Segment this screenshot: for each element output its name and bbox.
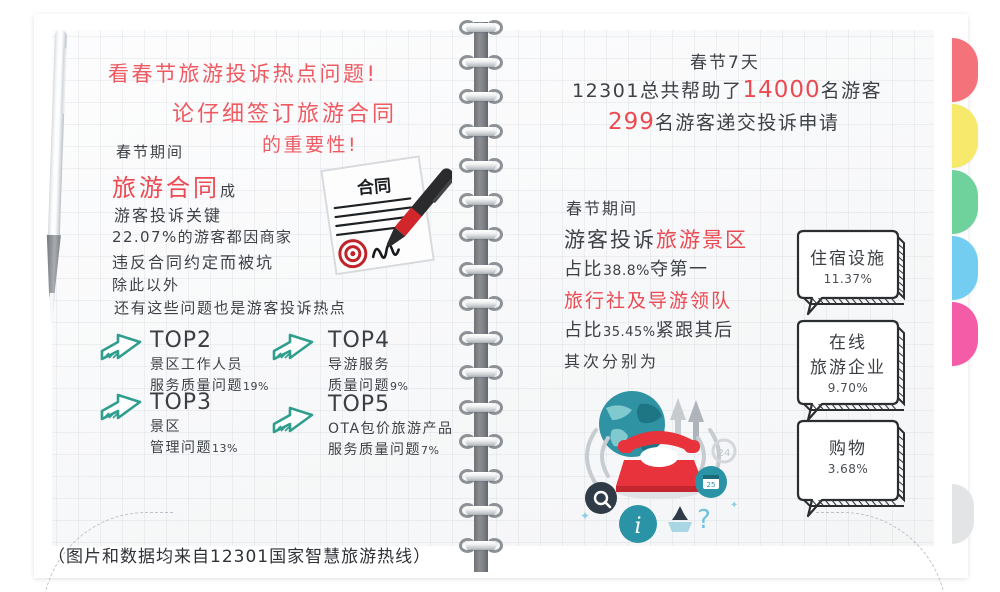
spiral-ring (455, 538, 507, 553)
right-header-visitor-count: 14000 (742, 77, 820, 103)
ring-bar (466, 58, 496, 67)
right-body-line-3-post: 夺第一 (650, 259, 709, 280)
top-item-percent: 19% (243, 380, 269, 393)
ring-bar (466, 23, 496, 32)
pen-grip (44, 235, 62, 298)
right-header-line-2-pre: 12301总共帮助了 (572, 80, 742, 102)
top-item-percent: 7% (421, 444, 439, 457)
top-item-rank: TOP4 (328, 328, 408, 353)
ring-bar (466, 127, 496, 136)
spiral-ring (455, 365, 507, 380)
svg-text:25: 25 (707, 481, 716, 489)
right-body-pct-first: 38.8% (603, 263, 650, 279)
top-item-line-1: 景区 (150, 416, 238, 436)
right-body-line-3-pre: 占比 (564, 259, 603, 280)
top-item-line-2: 管理问题13% (150, 437, 238, 457)
spiral-ring (455, 434, 507, 449)
arrow-icon (100, 333, 152, 373)
right-header-line-3-post: 名游客递交投诉申请 (655, 112, 840, 134)
bubble-percent: 3.68% (798, 462, 898, 476)
ring-bar (466, 196, 496, 205)
right-header-line-3: 299名游客递交投诉申请 (608, 108, 839, 135)
index-tab-yellow[interactable] (952, 104, 978, 168)
left-body-line-2-red: 旅游合同 (112, 174, 220, 202)
top-item-line-1: OTA包价旅游产品 (328, 418, 454, 438)
left-body-line-4: 22.07%的游客都因商家 (112, 226, 292, 247)
top-item-rank: TOP3 (150, 390, 238, 415)
index-tab-green[interactable] (952, 170, 978, 234)
ring-bar (466, 506, 496, 515)
left-body-line-7: 还有这些问题也是游客投诉热点 (114, 297, 346, 318)
ring-bar (466, 472, 496, 481)
left-body-line-1: 春节期间 (116, 141, 184, 162)
right-body-line-5: 占比35.45%紧跟其后 (564, 316, 734, 342)
right-body-line-3: 占比38.8%夺第一 (564, 255, 708, 281)
source-caption: （图片和数据均来自12301国家智慧旅游热线） (48, 542, 431, 567)
right-body-line-5-post: 紧跟其后 (656, 320, 734, 341)
hotline-illustration: 24 25 i ? ✦ ✦ (566, 386, 760, 550)
ring-bar (466, 334, 496, 343)
spiral-ring (455, 193, 507, 208)
bubble-title-2: 旅游企业 (798, 353, 898, 378)
right-body-pct-second: 35.45% (603, 325, 656, 340)
infographic-canvas: 看春节旅游投诉热点问题! 论仔细签订旅游合同 的重要性! 春节期间 旅游合同成 … (0, 0, 1000, 592)
right-header-line-1: 春节7天 (690, 48, 760, 73)
top-item-percent: 13% (212, 442, 238, 455)
right-body-line-1: 春节期间 (566, 195, 638, 219)
question-mark-icon: ? (697, 505, 711, 535)
hotline-24h-badge: 24 (718, 448, 731, 459)
spiral-ring (455, 503, 507, 518)
spiral-ring (455, 296, 507, 311)
stat-bubble: 购物3.68% (792, 418, 904, 524)
top-item-top4: TOP4导游服务质量问题9% (328, 328, 408, 395)
bubble-content: 购物3.68% (798, 434, 898, 476)
right-header-complaint-count: 299 (608, 109, 655, 135)
right-body-line-5-pre: 占比 (564, 320, 603, 341)
top-item-rank: TOP5 (328, 392, 454, 417)
svg-text:✦: ✦ (580, 509, 590, 523)
top-item-line-1: 景区工作人员 (150, 354, 269, 374)
top-item-line-2-text: 服务质量问题 (328, 442, 421, 458)
contract-illustration: 合同 (312, 152, 452, 288)
left-body-line-6: 除此以外 (112, 274, 180, 295)
spiral-ring (455, 400, 507, 415)
spiral-rings (455, 20, 507, 576)
index-tab-red[interactable] (952, 38, 978, 102)
spiral-ring (455, 89, 507, 104)
ring-bar (466, 541, 496, 550)
left-body-line-2-tail: 成 (220, 182, 236, 200)
right-body-line-2-pre: 游客投诉 (564, 228, 656, 252)
top-item-line-1: 导游服务 (328, 354, 408, 374)
bubble-title: 住宿设施 (798, 244, 898, 269)
bubble-title: 在线 (798, 328, 898, 353)
arrow-icon (272, 333, 324, 373)
index-tabs[interactable] (952, 38, 978, 368)
spiral-ring (455, 469, 507, 484)
top-item-line-2-text: 管理问题 (150, 440, 212, 456)
ring-bar (466, 368, 496, 377)
spiral-ring (455, 227, 507, 242)
ring-bar (466, 265, 496, 274)
svg-text:合同: 合同 (356, 175, 392, 199)
ring-bar (466, 437, 496, 446)
headline-line-2: 论仔细签订旅游合同 (172, 96, 397, 128)
index-tab-gray[interactable] (952, 484, 974, 544)
right-header-line-2-post: 名游客 (821, 80, 883, 102)
top-item-top3: TOP3景区管理问题13% (150, 390, 238, 457)
index-tab-blue[interactable] (952, 236, 978, 300)
right-body-line-2: 游客投诉旅游景区 (564, 224, 748, 254)
spiral-ring (455, 20, 507, 35)
index-tab-pink[interactable] (952, 302, 978, 366)
spiral-ring (455, 124, 507, 139)
spiral-ring (455, 331, 507, 346)
arrow-icon (272, 406, 324, 446)
bubble-content: 在线旅游企业9.70% (798, 328, 898, 395)
spiral-ring (455, 158, 507, 173)
stat-bubble: 在线旅游企业9.70% (792, 318, 904, 428)
ring-bar (466, 161, 496, 170)
svg-text:✦: ✦ (730, 500, 738, 511)
right-body-line-6: 其次分别为 (564, 348, 659, 372)
top-item-top2: TOP2景区工作人员服务质量问题19% (150, 328, 269, 395)
headline-line-1: 看春节旅游投诉热点问题! (108, 58, 377, 88)
ring-bar (466, 299, 496, 308)
bubble-percent: 11.37% (798, 272, 898, 286)
right-body-line-2-red: 旅游景区 (656, 228, 748, 252)
top-item-line-2: 服务质量问题7% (328, 439, 454, 459)
stat-bubble: 住宿设施11.37% (792, 228, 904, 322)
top-item-top5: TOP5OTA包价旅游产品服务质量问题7% (328, 392, 454, 459)
top-item-rank: TOP2 (150, 328, 269, 353)
spiral-ring (455, 262, 507, 277)
left-body-line-3: 游客投诉关键 (114, 202, 222, 226)
spiral-ring (455, 55, 507, 70)
info-icon: i (634, 514, 641, 539)
bubble-title: 购物 (798, 434, 898, 459)
ring-bar (466, 403, 496, 412)
left-body-line-2: 旅游合同成 (112, 168, 236, 203)
left-body-line-5: 违反合同约定而被坑 (112, 249, 274, 273)
right-body-line-4: 旅行社及导游领队 (564, 286, 732, 313)
arrow-icon (100, 393, 152, 433)
ring-bar (466, 92, 496, 101)
bubble-content: 住宿设施11.37% (798, 244, 898, 286)
ring-bar (466, 230, 496, 239)
right-header-line-2: 12301总共帮助了14000名游客 (572, 76, 882, 103)
bubble-percent: 9.70% (798, 381, 898, 395)
